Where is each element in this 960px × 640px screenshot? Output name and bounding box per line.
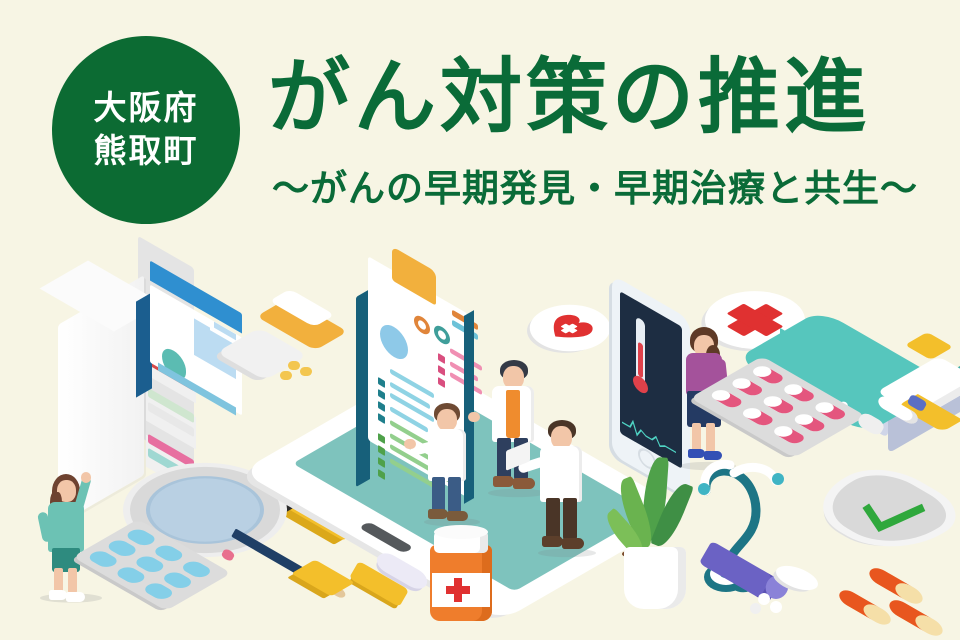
medical-illustration [0, 255, 960, 640]
cancer-measures-banner: 大阪府 熊取町 がん対策の推進 〜がんの早期発見・早期治療と共生〜 [0, 0, 960, 640]
yellow-block [300, 555, 370, 615]
page-title: がん対策の推進 [268, 52, 870, 144]
badge-prefecture: 大阪府 [94, 90, 199, 127]
orange-capsules [856, 551, 960, 640]
check-icon [862, 493, 926, 543]
badge-town: 熊取町 [94, 133, 199, 170]
page-subtitle: 〜がんの早期発見・早期治療と共生〜 [272, 158, 918, 212]
municipality-badge: 大阪府 熊取町 [52, 36, 240, 224]
banner-header: 大阪府 熊取町 がん対策の推進 〜がんの早期発見・早期治療と共生〜 [0, 0, 960, 260]
purple-medicine-tube [700, 541, 830, 621]
